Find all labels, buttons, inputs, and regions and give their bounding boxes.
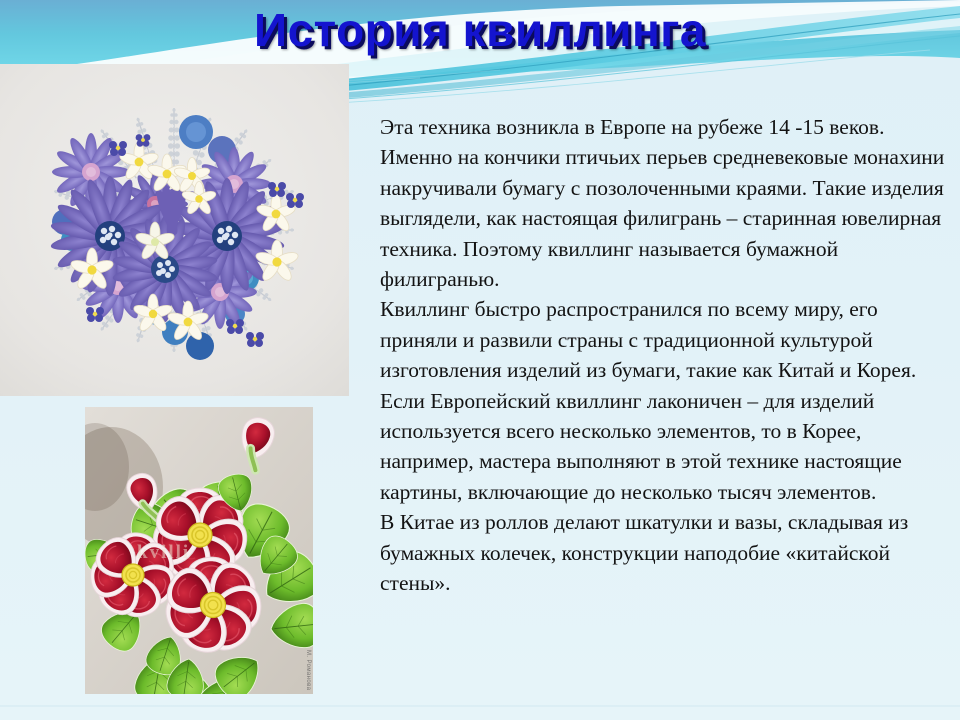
slide-canvas: История квиллинга [0, 0, 960, 720]
paragraph-4: В Китае из роллов делают шкатулки и вазы… [380, 507, 950, 598]
paragraph-3: Если Европейский квиллинг лаконичен – дл… [380, 386, 950, 508]
page-title: История квиллинга [0, 2, 960, 58]
quilling-blue-bouquet-photo [0, 64, 349, 396]
blue-bouquet-illustration [0, 64, 349, 396]
image-credit: М. Романова [305, 650, 311, 690]
body-text-block: Эта техника возникла в Европе на рубеже … [380, 112, 950, 599]
paragraph-2: Квиллинг быстро распространился по всему… [380, 294, 950, 385]
red-flowers-illustration [85, 407, 313, 694]
quilling-red-flowers-photo: kvilli М. Романова [85, 407, 313, 694]
paragraph-1: Эта техника возникла в Европе на рубеже … [380, 112, 950, 294]
